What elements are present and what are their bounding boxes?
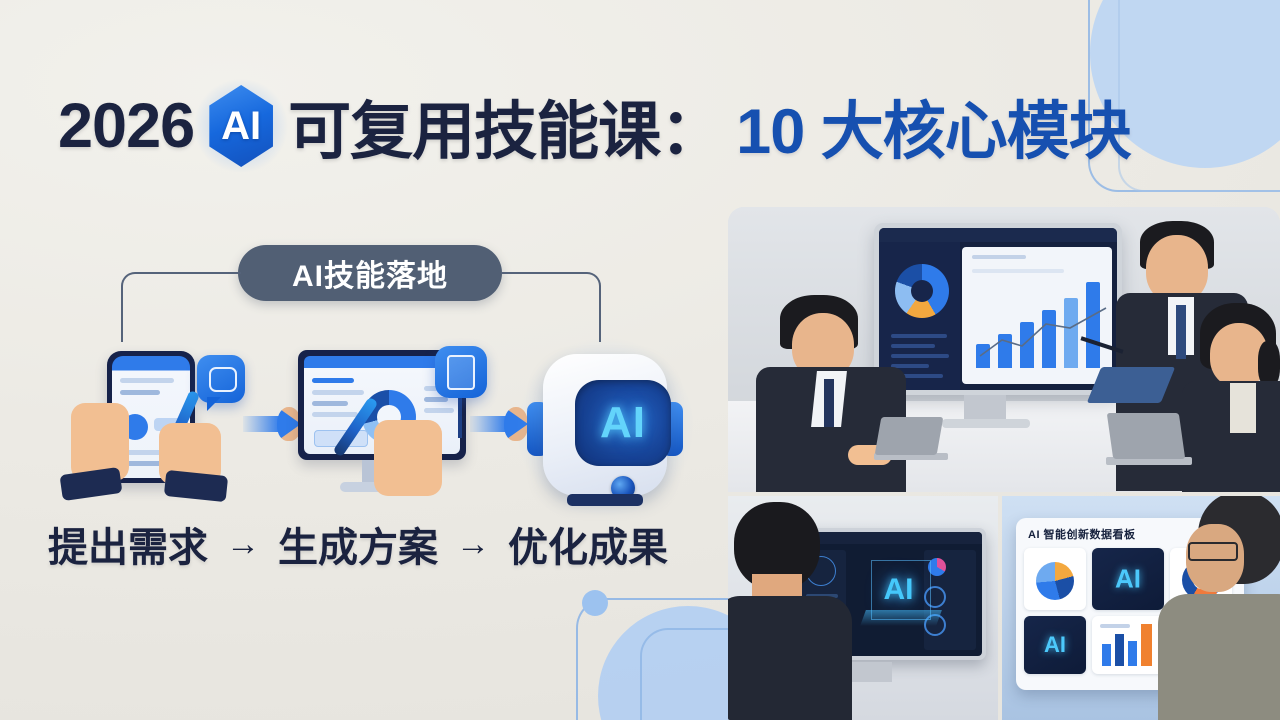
flow-pill-label: AI技能落地: [292, 251, 448, 295]
dashboard-trend-line: [974, 304, 1114, 366]
br-person-body: [1158, 594, 1280, 720]
bl-monitor-stand: [846, 662, 892, 682]
bl-viewer-person: [728, 496, 836, 720]
flow-step-1-label: 提出需求: [48, 515, 208, 573]
imac-neck: [964, 395, 1006, 421]
ai-hexagon-badge-icon: AI: [204, 85, 278, 167]
bl-hologram-base: [861, 610, 943, 626]
br-card-pie: [1024, 548, 1086, 610]
laptop-right-lid: [1107, 413, 1185, 459]
bl-person-body: [728, 596, 852, 720]
chat-bubble-glyph: [209, 367, 237, 392]
poster-canvas: 2026 AI 可复用技能课： 10 大核心模块 AI技能落地: [0, 0, 1280, 720]
ai-hexagon-label: AI: [221, 104, 261, 149]
ai-robot-icon: AI: [525, 340, 685, 515]
robot-head: AI: [543, 354, 667, 496]
right-sleeve: [164, 470, 228, 502]
flow-step-2-label: 生成方案: [278, 515, 438, 573]
flow-step-labels: 提出需求 → 生成方案 → 优化成果: [0, 514, 716, 574]
flow-bracket-left: [121, 272, 241, 342]
bl-ai-hologram-icon: AI: [865, 564, 931, 616]
laptop-left-lid: [875, 417, 944, 455]
br-board-title: AI 智能创新数据看板: [1028, 526, 1136, 542]
dashboard-toolbar: [879, 228, 1117, 242]
office-meeting-dashboard-photo: [728, 207, 1280, 492]
man-ai-hologram-monitor-photo: AI: [728, 496, 998, 720]
flow-step-3-label: 优化成果: [508, 515, 668, 573]
held-folder: [1087, 367, 1176, 403]
flow-bracket-right: [501, 272, 601, 342]
dashboard-donut-chart: [895, 264, 949, 318]
title-middle: 可复用技能课：: [288, 81, 722, 172]
br-viewer-person: [1170, 496, 1280, 720]
tablet-badge-stem: [458, 396, 462, 438]
seated-man-left: [762, 295, 902, 492]
br-card-ai-1-label: AI: [1092, 564, 1164, 595]
title-highlight: 10 大核心模块: [736, 81, 1131, 172]
robot-screen: AI: [575, 380, 671, 466]
dashboard-chart-panel: [962, 247, 1112, 384]
pointing-hand: [374, 420, 442, 496]
page-title: 2026 AI 可复用技能课： 10 大核心模块: [58, 84, 1248, 168]
chat-bubble-icon: [197, 355, 245, 403]
dashboard-screen: [879, 228, 1117, 390]
flow-step-separator-1: →: [226, 525, 260, 564]
br-card-ai-2: AI: [1024, 616, 1086, 674]
decor-line-bottom-center: [576, 598, 728, 720]
glasses-icon: [1188, 542, 1238, 561]
br-card-ai-2-label: AI: [1024, 632, 1086, 658]
monitor-chart-icon: [290, 342, 490, 512]
left-sleeve: [59, 467, 122, 501]
br-pie-chart: [1036, 562, 1074, 600]
flow-pill-badge: AI技能落地: [238, 245, 502, 301]
photo-collage: AI AI 智能创新数据看板 AI: [728, 207, 1280, 720]
imac-foot: [942, 419, 1030, 428]
flow-step-separator-2: →: [456, 525, 490, 564]
seated-woman-right: [1190, 303, 1280, 492]
whiteboard-ai-charts-photo: AI 智能创新数据看板 AI AI: [1002, 496, 1280, 720]
tablet-glyph: [447, 355, 475, 390]
robot-foot: [567, 494, 643, 506]
imac-display: [874, 223, 1122, 395]
br-card-ai-1: AI: [1092, 548, 1164, 610]
tablet-badge-icon: [435, 346, 487, 398]
hand-phone-icon: [55, 345, 245, 510]
br-card-bar: [1092, 616, 1164, 674]
title-year: 2026: [58, 90, 194, 162]
robot-screen-label: AI: [600, 398, 646, 448]
